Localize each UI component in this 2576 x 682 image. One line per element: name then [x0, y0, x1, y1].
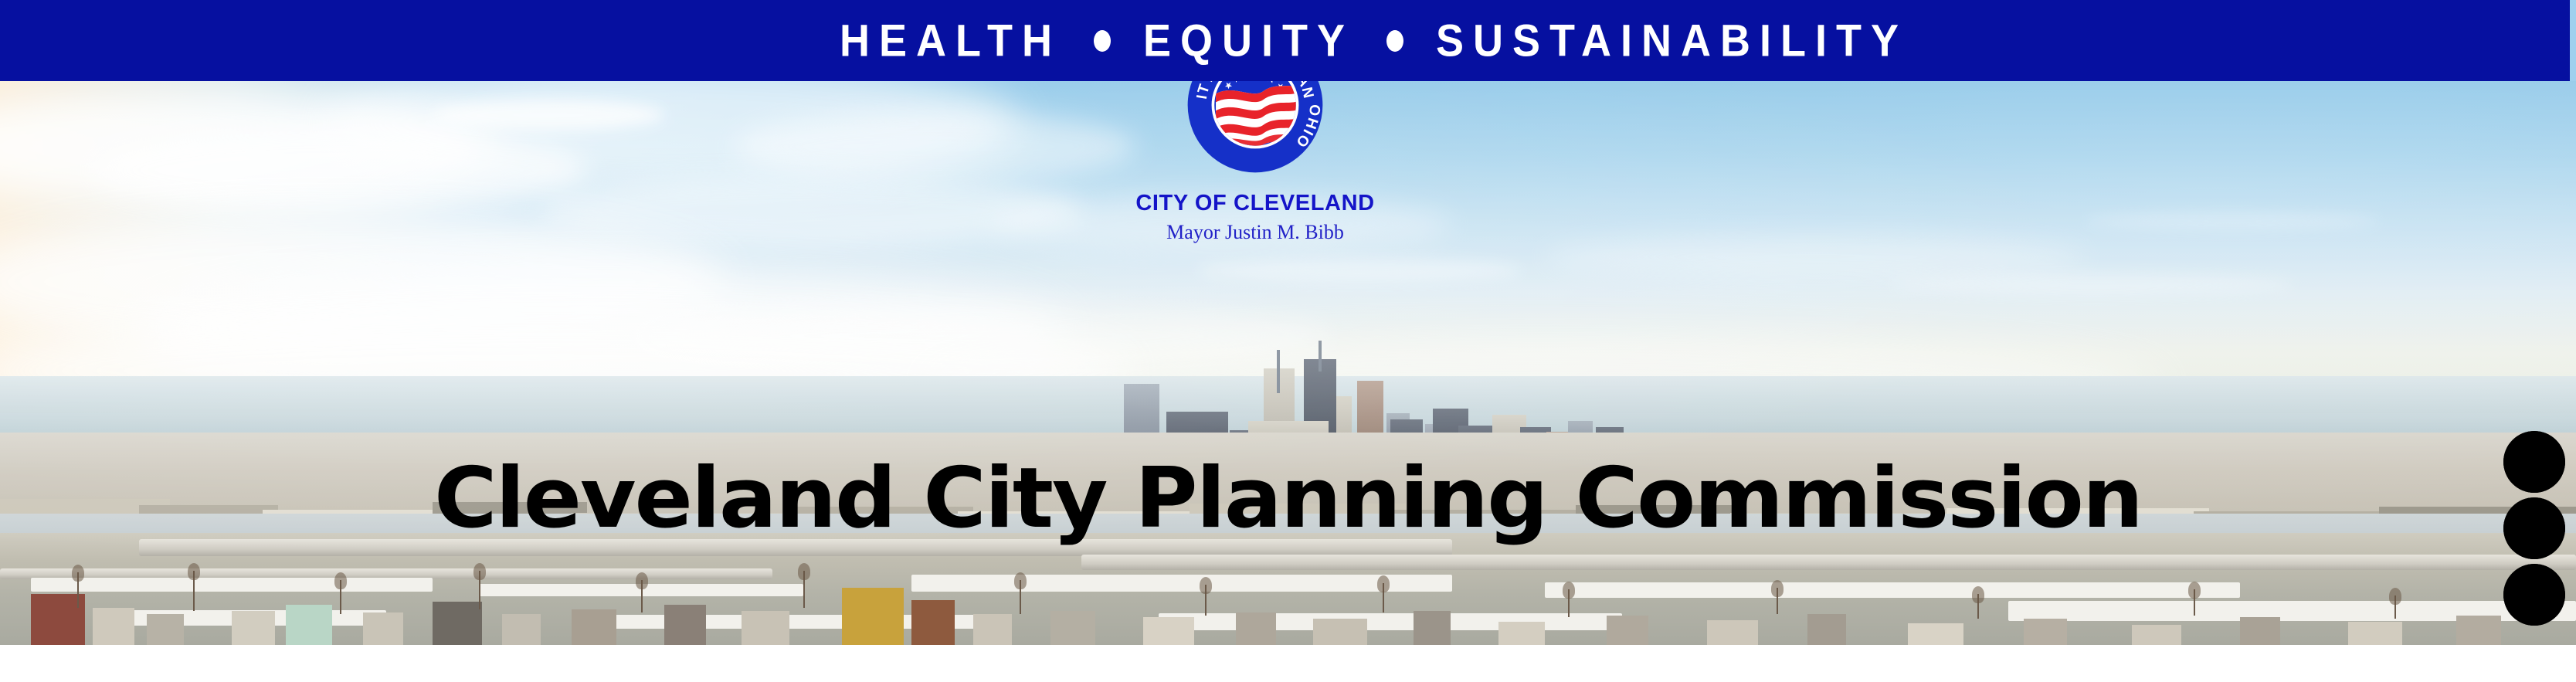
facebook-link[interactable]: [2503, 564, 2565, 626]
bullet-dot-icon: [1094, 30, 1111, 52]
tagline-word-equity: EQUITY: [1143, 18, 1354, 63]
tagline-word-sustainability: SUSTAINABILITY: [1436, 18, 1908, 63]
social-links: [2503, 431, 2567, 626]
instagram-link[interactable]: [2503, 497, 2565, 559]
page-title: Cleveland City Planning Commission: [0, 457, 2576, 541]
cleveland-city-planning-commission-banner: HEALTH EQUITY SUSTAINABILITY: [0, 0, 2576, 682]
youtube-link[interactable]: [2503, 431, 2565, 493]
banner-right-edge: [2570, 0, 2576, 81]
organization-name: CITY OF CLEVELAND: [1054, 192, 1456, 215]
mayor-name: Mayor Justin M. Bibb: [1054, 222, 1456, 243]
bullet-dot-icon: [1386, 30, 1403, 52]
tagline-banner: HEALTH EQUITY SUSTAINABILITY: [0, 0, 2570, 81]
foreground-neighborhood: [0, 533, 2576, 645]
tagline-word-health: HEALTH: [840, 18, 1061, 63]
